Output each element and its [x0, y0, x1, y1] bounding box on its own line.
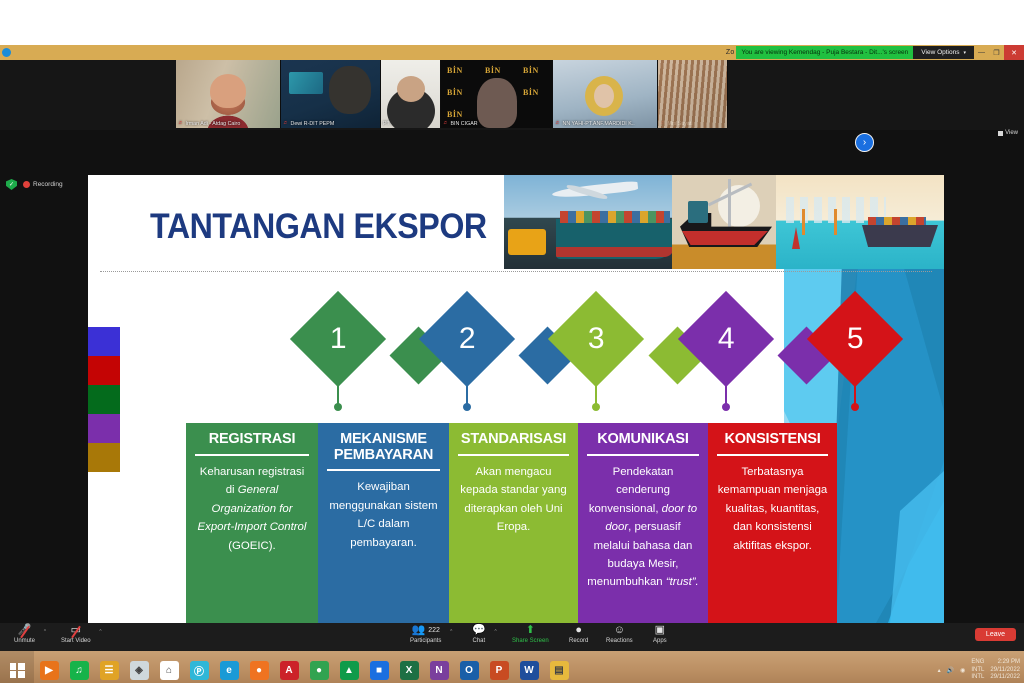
apps-label: Apps — [653, 638, 667, 644]
share-screen-button[interactable]: ⬆ Share Screen — [512, 625, 549, 644]
recording-indicator[interactable]: Recording — [23, 181, 63, 188]
boat-cabin-shape — [688, 201, 708, 223]
reactions-label: Reactions — [606, 638, 633, 644]
next-participants-button[interactable]: › — [855, 133, 874, 152]
buoy-shape — [792, 227, 800, 249]
diamond-number-label: 3 — [588, 324, 605, 354]
column-rule — [195, 454, 309, 456]
column-body: Akan mengacu kepada standar yang diterap… — [449, 463, 578, 537]
palette-swatch[interactable] — [88, 443, 120, 472]
column-body: Terbatasnya kemampuan menjaga kualitas, … — [708, 463, 837, 555]
clock-date-secondary: 29/11/2022 — [990, 674, 1020, 682]
palette-swatch[interactable] — [88, 414, 120, 443]
emphasis-text: “trust”. — [666, 576, 699, 588]
palette-swatch[interactable] — [88, 356, 120, 385]
lang-line-1: ENG — [971, 659, 984, 667]
file-explorer-icon: ▤ — [550, 661, 569, 680]
diamond-stem — [466, 373, 468, 405]
view-options-label: View Options — [921, 49, 959, 56]
taskbar-item-adobe-acrobat[interactable]: A — [274, 651, 304, 683]
participant-tile[interactable]: PT BAMS — [381, 60, 441, 128]
participant-name: Dewi R-DIT PEPM — [291, 121, 335, 127]
mic-muted-icon: ♬ — [555, 121, 561, 127]
participant-name: BIN CIGAR — [451, 121, 478, 127]
participant-filmstrip: ♬Irman Adi - Atdag Cairo ♬Dewi R-DIT PEP… — [0, 60, 1024, 130]
column-rule — [327, 469, 440, 471]
bin-text: BİN — [447, 110, 463, 119]
color-palette-strip[interactable] — [88, 327, 120, 472]
close-button[interactable]: ✕ — [1004, 45, 1024, 60]
column-body: Kewajiban menggunakan sistem L/C dalam p… — [318, 478, 449, 552]
body-text: Akan mengacu kepada standar yang diterap… — [460, 466, 566, 533]
taskbar-item-home-folder[interactable]: ⌂ — [154, 651, 184, 683]
file-manager-icon: ☰ — [100, 661, 119, 680]
zoom-title-bar: Zo You are viewing Kemendag - Puja Besta… — [0, 45, 1024, 60]
diamond-stem-dot — [592, 403, 600, 411]
clock-time: 2:29 PM — [990, 659, 1020, 667]
taskbar-item-firefox[interactable]: ● — [244, 651, 274, 683]
zoom-icon: ■ — [370, 661, 389, 680]
bin-text: BİN — [485, 66, 501, 75]
microsoft-word-icon: W — [520, 661, 539, 680]
start-video-button[interactable]: ▭ Start Video ⌃ — [61, 625, 91, 644]
taskbar-item-microsoft-word[interactable]: W — [514, 651, 544, 683]
challenge-column: MEKANISME PEMBAYARANKewajiban menggunaka… — [318, 423, 449, 623]
record-label: Record — [569, 638, 588, 644]
record-circle-icon: ● — [575, 625, 582, 636]
palette-swatch[interactable] — [88, 385, 120, 414]
speaker-icon[interactable]: 🔊 — [947, 667, 954, 674]
windows-logo-icon — [10, 663, 25, 678]
clock-date: 29/11/2022 — [990, 667, 1020, 675]
chevron-up-icon[interactable]: ⌃ — [449, 629, 453, 635]
bin-text: BİN — [447, 66, 463, 75]
diamond-stem-dot — [722, 403, 730, 411]
tugboat-illustration — [672, 175, 776, 269]
participant-tile[interactable]: BİN BİN BİN BİN BİN BİN ♬BIN CIGAR — [441, 60, 553, 128]
taskbar-item-spotify[interactable]: ♫ — [64, 651, 94, 683]
taskbar-item-microsoft-powerpoint[interactable]: P — [484, 651, 514, 683]
clock[interactable]: 2:29 PM 29/11/2022 29/11/2022 — [990, 659, 1020, 682]
column-heading: REGISTRASI — [186, 423, 318, 451]
view-layout-button[interactable]: View — [998, 130, 1018, 136]
taskbar-item-vlc-media-player[interactable]: ▶ — [34, 651, 64, 683]
record-dot-icon — [23, 181, 30, 188]
record-button[interactable]: ● Record — [569, 625, 588, 644]
mic-muted-icon: ♬ — [443, 121, 449, 127]
view-options-button[interactable]: View Options ▾ — [913, 46, 974, 59]
nero-icon: ◈ — [130, 661, 149, 680]
divider — [100, 271, 932, 272]
taskbar-item-internet-explorer[interactable]: e — [214, 651, 244, 683]
start-video-label: Start Video — [61, 638, 91, 644]
cargo-port-photo — [504, 175, 672, 269]
apps-icon: ▣ — [655, 625, 665, 636]
taskbar-item-file-manager[interactable]: ☰ — [94, 651, 124, 683]
language-indicator[interactable]: ENG INTL INTL — [971, 659, 984, 682]
chevron-up-icon[interactable]: ⌃ — [98, 629, 102, 635]
column-heading: MEKANISME PEMBAYARAN — [318, 423, 449, 466]
recording-status: ✓ Recording — [6, 179, 63, 190]
people-icon: 👥222 — [411, 625, 439, 636]
mic-muted-icon: ♬ — [660, 121, 666, 127]
shield-check-icon[interactable]: ✓ — [6, 179, 17, 190]
internet-explorer-icon: e — [220, 661, 239, 680]
cargo-ship-shape — [862, 225, 938, 247]
header-image-band — [504, 175, 944, 269]
taskbar-item-photoscape[interactable]: Ⓟ — [184, 651, 214, 683]
desktop: Zo You are viewing Kemendag - Puja Besta… — [0, 45, 1024, 645]
vlc-media-player-icon: ▶ — [40, 661, 59, 680]
diamond-number-label: 4 — [718, 324, 735, 354]
unmute-button[interactable]: 🎤 Unmute ⌃ — [14, 625, 35, 644]
diamond-stem — [337, 373, 339, 405]
bin-text: BİN — [447, 88, 463, 97]
participant-face — [594, 84, 614, 108]
chat-button[interactable]: 💬 Chat ⌃ — [472, 625, 486, 644]
zoom-window-title: Zo — [726, 49, 735, 56]
participant-name: PT BAMS — [383, 121, 406, 127]
start-button[interactable] — [0, 651, 34, 683]
column-body: Pendekatan cenderung konvensional, door … — [578, 463, 708, 592]
zoom-meeting-toolbar: 🎤 Unmute ⌃ ▭ Start Video ⌃ 👥222 Particip… — [0, 623, 1024, 651]
org-logo — [289, 72, 323, 94]
taskbar-item-nero[interactable]: ◈ — [124, 651, 154, 683]
grid-view-icon — [998, 131, 1003, 136]
show-hidden-icons-button[interactable]: ▴ — [938, 667, 941, 674]
diamond-number-row: 12345 — [88, 287, 944, 417]
participant-tile[interactable]: ♬Dewi R-DIT PEPM — [281, 60, 381, 128]
column-body: Keharusan registrasi di General Organiza… — [186, 463, 318, 555]
column-heading: STANDARISASI — [449, 423, 578, 451]
chevron-down-icon: ▾ — [963, 50, 966, 56]
unmute-label: Unmute — [14, 638, 35, 644]
participants-count: 222 — [428, 625, 440, 636]
windows-taskbar: ▶♫☰◈⌂Ⓟe●A●▲■XNOPW▤ ▴ 🔊 ◉ ENG INTL INTL 2… — [0, 651, 1024, 683]
boat-red-hull-shape — [682, 231, 768, 245]
taskbar-item-zoom[interactable]: ■ — [364, 651, 394, 683]
shared-slide: TANTANGAN EKSPOR 12345 REGISTRASIKeharus… — [88, 175, 944, 623]
adobe-illustrator-icon: ▲ — [340, 661, 359, 680]
lang-line-3: INTL — [971, 674, 984, 682]
participant-name: Mrs Suyati — [668, 121, 693, 127]
challenge-column: REGISTRASIKeharusan registrasi di Genera… — [186, 423, 318, 623]
leave-meeting-button[interactable]: Leave — [975, 628, 1016, 641]
firefox-icon: ● — [250, 661, 269, 680]
spotify-icon: ♫ — [70, 661, 89, 680]
diamond-number-label: 2 — [459, 324, 476, 354]
dock-crane-shape — [802, 209, 805, 235]
recording-label: Recording — [33, 181, 63, 188]
containers-shape — [868, 217, 926, 226]
diamond-stem-dot — [851, 403, 859, 411]
diamond-number-label: 5 — [847, 324, 864, 354]
participants-button[interactable]: 👥222 Participants ⌃ — [410, 625, 441, 644]
adobe-acrobat-icon: A — [280, 661, 299, 680]
participant-name: NN YAHI-PT.ANF.MARDIDI K.. — [563, 121, 635, 127]
diamond-stem — [595, 373, 597, 405]
harbor-illustration — [776, 175, 944, 269]
reactions-icon: ☺ — [614, 625, 625, 636]
palette-swatch[interactable] — [88, 327, 120, 356]
minimize-button[interactable]: — — [974, 45, 989, 60]
zoom-logo-icon — [2, 48, 11, 57]
column-heading: KONSISTENSI — [708, 423, 837, 451]
slide-title: TANTANGAN EKSPOR — [150, 207, 487, 247]
truck-shape — [508, 229, 546, 255]
taskbar-item-file-explorer[interactable]: ▤ — [544, 651, 574, 683]
microphone-muted-icon: 🎤 — [18, 625, 32, 636]
microsoft-outlook-icon: O — [460, 661, 479, 680]
diamond-number-label: 1 — [330, 324, 347, 354]
column-heading: KOMUNIKASI — [578, 423, 708, 451]
column-rule — [717, 454, 828, 456]
column-rule — [458, 454, 569, 456]
column-rule — [587, 454, 699, 456]
taskbar-item-google-chrome[interactable]: ● — [304, 651, 334, 683]
home-folder-icon: ⌂ — [160, 661, 179, 680]
lang-line-2: INTL — [971, 667, 984, 675]
challenge-column: KOMUNIKASIPendekatan cenderung konvensio… — [578, 423, 708, 623]
chevron-up-icon[interactable]: ⌃ — [43, 629, 47, 635]
containers-shape — [560, 211, 670, 223]
video-muted-icon: ▭ — [71, 625, 81, 636]
network-icon[interactable]: ◉ — [960, 667, 965, 674]
body-text: (GOEIC). — [228, 540, 275, 552]
screenshot-root: Zo You are viewing Kemendag - Puja Besta… — [0, 0, 1024, 683]
taskbar-item-microsoft-excel[interactable]: X — [394, 651, 424, 683]
participant-tile[interactable]: ♬Mrs Suyati — [658, 60, 728, 128]
challenge-column: KONSISTENSITerbatasnya kemampuan menjaga… — [708, 423, 837, 623]
mic-muted-icon: ♬ — [283, 121, 289, 127]
taskbar-item-microsoft-outlook[interactable]: O — [454, 651, 484, 683]
view-label: View — [1005, 130, 1018, 136]
apps-button[interactable]: ▣ Apps — [653, 625, 667, 644]
share-screen-icon: ⬆ — [526, 625, 535, 636]
diamond-stem-dot — [334, 403, 342, 411]
taskbar-item-microsoft-onenote[interactable]: N — [424, 651, 454, 683]
share-screen-label: Share Screen — [512, 638, 549, 644]
microsoft-onenote-icon: N — [430, 661, 449, 680]
taskbar-item-adobe-illustrator[interactable]: ▲ — [334, 651, 364, 683]
ship-hull-shape — [556, 247, 672, 257]
chat-bubble-icon: 💬 — [472, 625, 486, 636]
chevron-up-icon[interactable]: ⌃ — [494, 629, 498, 635]
viewing-screen-banner: You are viewing Kemendag - Puja Bestara … — [736, 46, 913, 59]
challenge-column: STANDARISASIAkan mengacu kepada standar … — [449, 423, 578, 623]
microsoft-powerpoint-icon: P — [490, 661, 509, 680]
participant-tile[interactable]: ♬Irman Adi - Atdag Cairo — [176, 60, 281, 128]
bin-text: BİN — [523, 88, 539, 97]
participant-name: Irman Adi - Atdag Cairo — [186, 121, 241, 127]
dock-crane-shape — [834, 209, 837, 235]
chat-label: Chat — [473, 638, 486, 644]
mic-muted-icon: ♬ — [178, 121, 184, 127]
body-text: Terbatasnya kemampuan menjaga kualitas, … — [718, 466, 828, 552]
body-text: Kewajiban menggunakan sistem L/C dalam p… — [329, 481, 437, 548]
emphasis-text: General Organization for Export-Import C… — [198, 484, 307, 533]
window-controls: — ❐ ✕ — [974, 45, 1024, 60]
bin-text: BİN — [523, 66, 539, 75]
taskbar-icon-list: ▶♫☰◈⌂Ⓟe●A●▲■XNOPW▤ — [34, 651, 574, 683]
google-chrome-icon: ● — [310, 661, 329, 680]
participant-tile[interactable]: ♬NN YAHI-PT.ANF.MARDIDI K.. — [553, 60, 658, 128]
microsoft-excel-icon: X — [400, 661, 419, 680]
diamond-stem — [854, 373, 856, 405]
diamond-stem — [725, 373, 727, 405]
diamond-stem-dot — [463, 403, 471, 411]
maximize-button[interactable]: ❐ — [989, 45, 1004, 60]
photoscape-icon: Ⓟ — [190, 661, 209, 680]
system-tray: ▴ 🔊 ◉ ENG INTL INTL 2:29 PM 29/11/2022 2… — [938, 659, 1024, 682]
challenge-columns: REGISTRASIKeharusan registrasi di Genera… — [186, 423, 837, 623]
reactions-button[interactable]: ☺ Reactions — [606, 625, 633, 644]
participants-label: Participants — [410, 638, 441, 644]
